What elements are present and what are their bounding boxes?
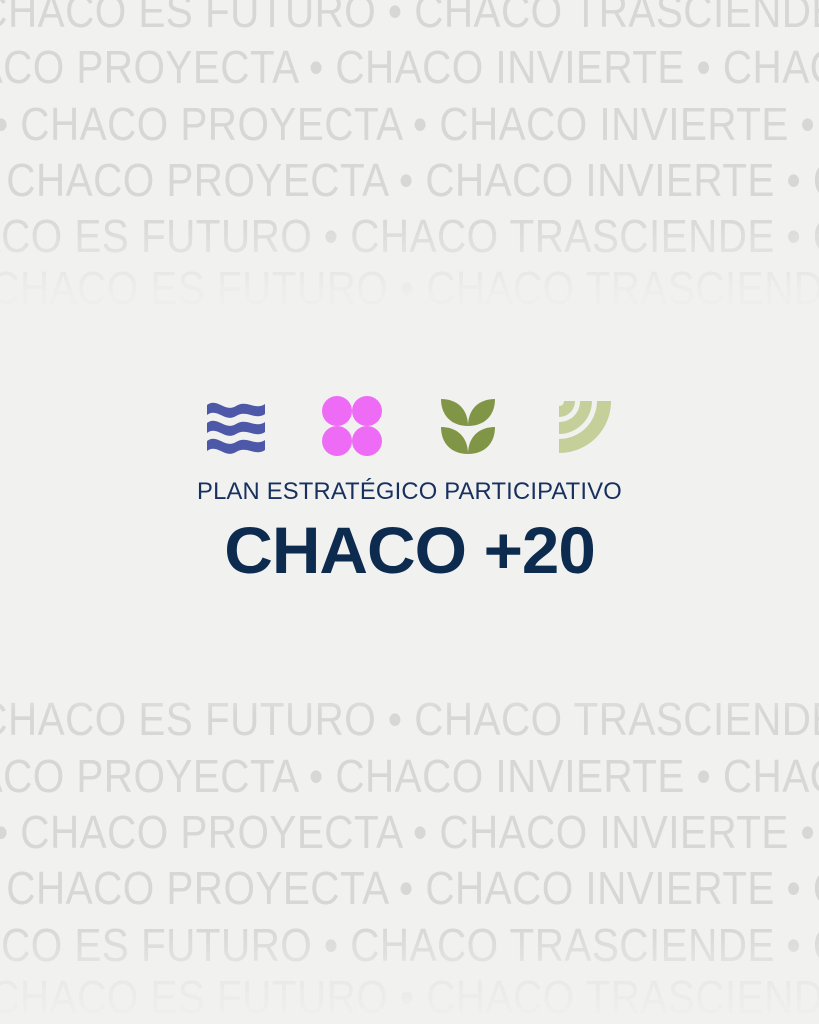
watermark-line: • CHACO ES FUTURO • CHACO TRASCIENDE • C… — [0, 0, 819, 34]
arcs-icon — [551, 393, 617, 459]
watermark-line: • CHACO PROYECTA • CHACO INVIERTE • CHA — [0, 157, 819, 203]
watermark-line: • CHACO ES FUTURO • CHACO TRASCIENDE • C… — [0, 974, 819, 1020]
dots-icon — [319, 393, 385, 459]
brand-subtitle: PLAN ESTRATÉGICO PARTICIPATIVO — [12, 480, 806, 505]
watermark-bottom-block: • CHACO ES FUTURO • CHACO TRASCIENDE • C… — [0, 660, 819, 1024]
watermark-line: • CHACO PROYECTA • CHACO INVIERTE • CHAC… — [0, 44, 819, 90]
brand-wordmark: CHACO +20 — [0, 517, 819, 584]
sprout-icon — [435, 393, 501, 459]
watermark-line: • CHACO PROYECTA • CHACO INVIERTE • CHA — [0, 809, 819, 855]
watermark-line: • CHACO ES FUTURO • CHACO TRASCIENDE • C… — [0, 213, 819, 259]
brand-lockup: PLAN ESTRATÉGICO PARTICIPATIVO CHACO +20 — [0, 392, 819, 584]
poster-canvas: • CHACO ES FUTURO • CHACO TRASCIENDE • C… — [0, 0, 819, 1024]
watermark-line: • CHACO PROYECTA • CHACO INVIERTE • CHA — [0, 101, 819, 147]
waves-icon — [203, 393, 269, 459]
watermark-line: • CHACO ES FUTURO • CHACO TRASCIENDE • C… — [0, 922, 819, 968]
brand-icon-row — [0, 392, 819, 460]
watermark-line: • CHACO ES FUTURO • CHACO TRASCIENDE • C… — [0, 265, 819, 311]
watermark-line: • CHACO PROYECTA • CHACO INVIERTE • CHAC… — [0, 753, 819, 799]
watermark-line: • CHACO PROYECTA • CHACO INVIERTE • CHA — [0, 865, 819, 911]
watermark-top-block: • CHACO ES FUTURO • CHACO TRASCIENDE • C… — [0, 0, 819, 330]
watermark-line: • CHACO ES FUTURO • CHACO TRASCIENDE • C… — [0, 696, 819, 742]
